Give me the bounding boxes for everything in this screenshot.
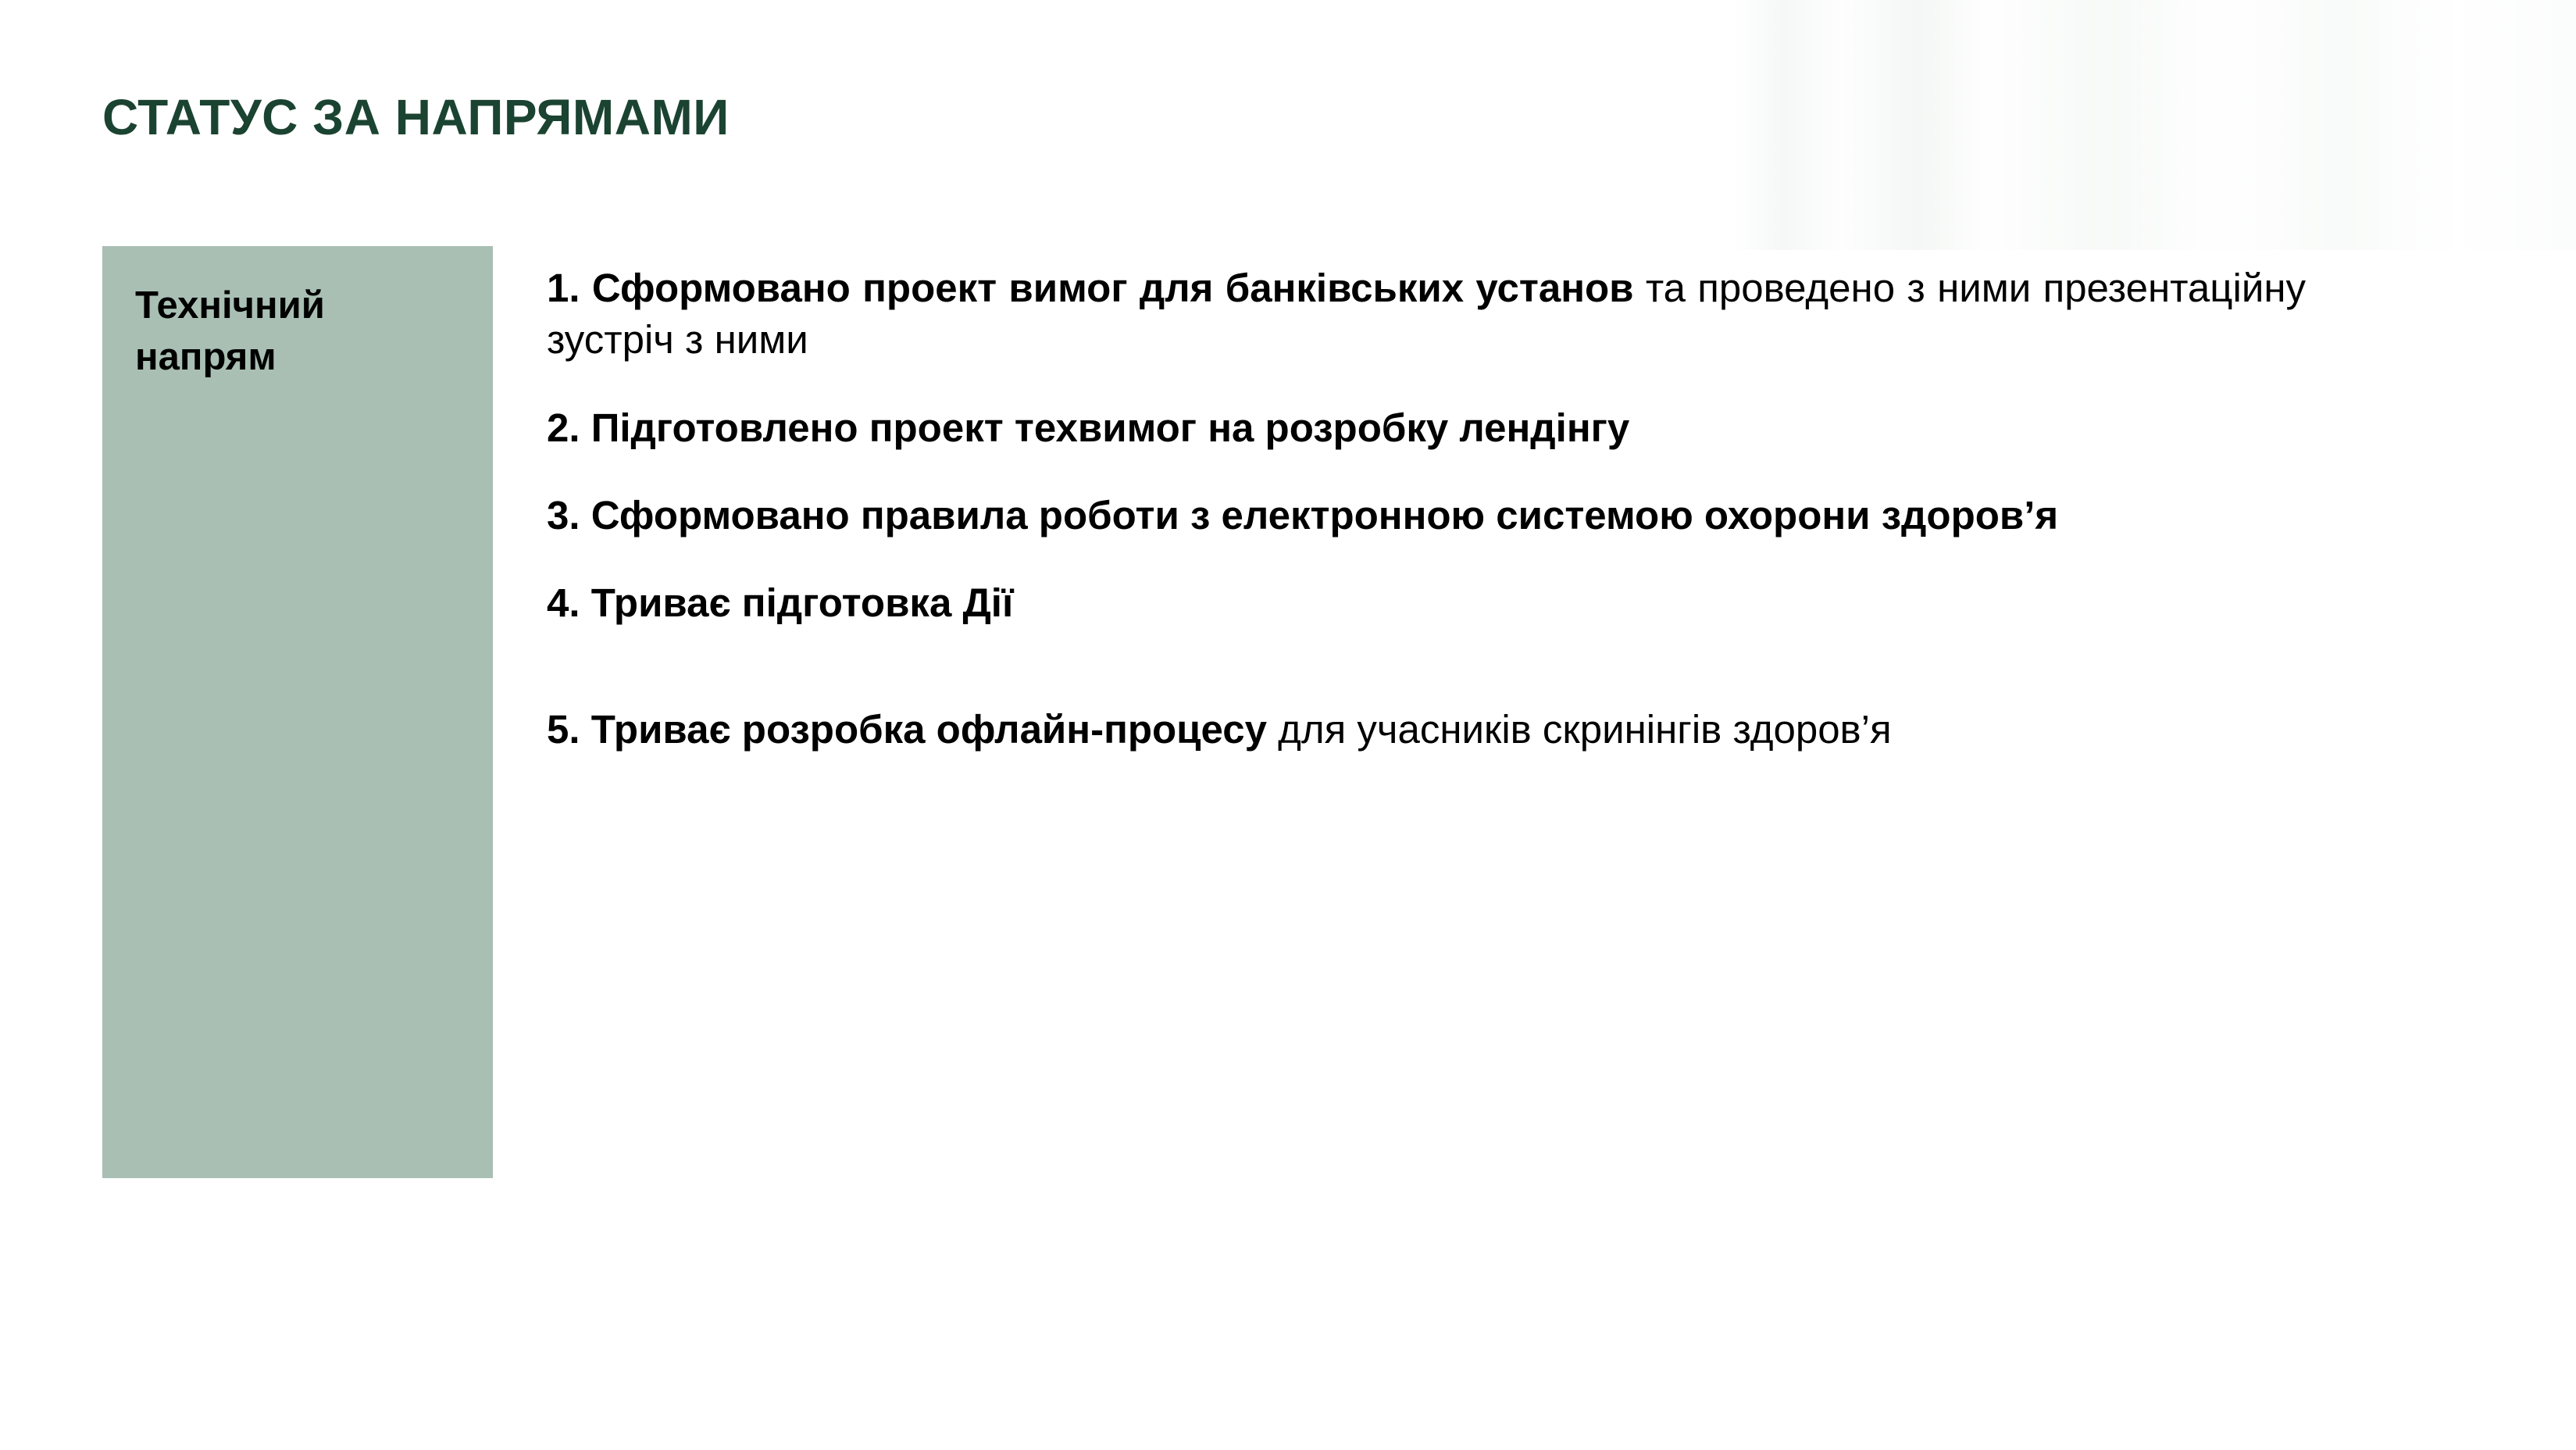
list-item-bold-text: Сформовано проект вимог для банківських … — [592, 266, 1634, 310]
list-item: 5. Триває розробка офлайн-процесу для уч… — [547, 704, 2306, 755]
list-item-number: 4. — [547, 580, 580, 625]
list-item: 2. Підготовлено проект техвимог на розро… — [547, 402, 2306, 454]
background-banding-artifact — [1732, 0, 2576, 250]
status-items-list: 1. Сформовано проект вимог для банківськ… — [547, 262, 2306, 756]
list-item-bold-text: Триває розробка офлайн-процесу — [591, 707, 1267, 752]
list-item-regular-text: для учасників скринінгів здоров’я — [1278, 707, 1891, 752]
slide-canvas: СТАТУС ЗА НАПРЯМАМИ Технічний напрям 1. … — [0, 0, 2576, 1450]
list-item: 4. Триває підготовка Дії — [547, 577, 2306, 629]
list-item-number: 2. — [547, 405, 580, 450]
list-item-number: 3. — [547, 493, 580, 537]
list-item-bold-text: Сформовано правила роботи з електронною … — [591, 493, 2058, 537]
list-item-bold-text: Триває підготовка Дії — [591, 580, 1014, 625]
list-item: 1. Сформовано проект вимог для банківськ… — [547, 262, 2306, 366]
category-panel: Технічний напрям — [102, 246, 493, 1178]
list-item-number: 5. — [547, 707, 580, 752]
category-label: Технічний напрям — [135, 280, 463, 383]
page-title: СТАТУС ЗА НАПРЯМАМИ — [102, 91, 730, 144]
list-item-bold-text: Підготовлено проект техвимог на розробку… — [591, 405, 1630, 450]
list-item-number: 1. — [547, 266, 580, 310]
list-item: 3. Сформовано правила роботи з електронн… — [547, 490, 2306, 541]
